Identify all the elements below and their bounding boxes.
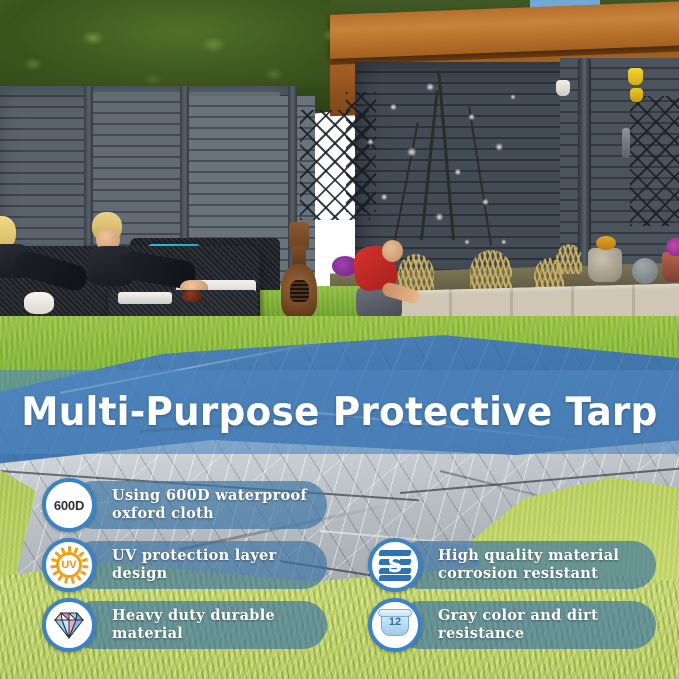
layers-s-icon: S [368,538,422,592]
chiminea-chimney [289,222,309,248]
feature-pill: High quality material corrosion resistan… [396,541,656,589]
layers-glyph: S [378,549,412,581]
page-title: Multi-Purpose Protective Tarp [21,390,657,435]
man-head [382,240,403,262]
person-1-socks [24,292,54,314]
uv-icon-label: UV [50,546,88,584]
garden-ornament [632,258,658,284]
feature-pill: UV protection layer design [70,541,327,589]
gem-svg [51,609,87,641]
bird-feeder [622,128,630,158]
planter-flower [596,236,616,250]
feature-pill: Heavy duty durable material [70,601,327,649]
bucket-glyph: 12 [377,608,413,642]
hanging-pot-yellow [628,68,643,85]
feature-item-uv-protection: UV protection layer design [42,538,327,592]
feature-pill: Using 600D waterproof oxford cloth [70,481,327,529]
feature-item-high-quality: High quality material corrosion resistan… [368,538,656,592]
feature-line-1: Using 600D waterproof [112,487,307,504]
hanging-pot-yellow-2 [630,88,643,102]
ornamental-grass-4 [556,244,582,274]
feature-line-2: design [112,565,168,582]
purple-flowers-2 [666,238,679,256]
feature-list: Using 600D waterproof oxford cloth 600D … [0,470,679,679]
feature-line-1: High quality material [438,547,619,564]
bucket-icon-label: 12 [377,616,413,628]
feature-text: UV protection layer design [112,547,277,582]
lattice-right [630,96,679,226]
bowl-on-table [182,290,202,302]
chiminea-neck [292,246,306,266]
feature-line-2: resistance [438,625,524,642]
600d-icon-label: 600D [54,498,84,513]
feature-text: Using 600D waterproof oxford cloth [112,487,307,522]
feature-text: Heavy duty durable material [112,607,275,642]
feature-line-2: oxford cloth [112,505,214,522]
feature-text: Gray color and dirt resistance [438,607,598,642]
feature-item-dirt-resistance: Gray color and dirt resistance 12 [368,598,656,652]
600d-badge-icon: 600D [42,478,96,532]
terracotta-pot [662,252,679,282]
feature-item-heavy-duty: Heavy duty durable material [42,598,327,652]
diamond-gem-icon [42,598,96,652]
feature-line-2: material [112,625,183,642]
feature-line-1: UV protection layer [112,547,277,564]
sun-glyph: UV [50,546,88,584]
stone-planter [588,248,622,282]
feature-text: High quality material corrosion resistan… [438,547,619,582]
feature-line-1: Heavy duty durable [112,607,275,624]
layers-s-letter: S [389,550,401,580]
gem-glyph [51,609,87,641]
feature-line-1: Gray color and dirt [438,607,598,624]
title-banner: Multi-Purpose Protective Tarp [0,370,679,454]
product-poster: Multi-Purpose Protective Tarp Using 600D… [0,0,679,679]
feature-pill: Gray color and dirt resistance [396,601,656,649]
hanging-pot-white [556,80,570,96]
magazine-on-table [118,292,172,304]
feature-line-2: corrosion resistant [438,565,598,582]
uv-sun-icon: UV [42,538,96,592]
feature-item-600d-oxford: Using 600D waterproof oxford cloth 600D [42,478,327,532]
chiminea-grate [290,280,309,302]
wash-bucket-icon: 12 [368,598,422,652]
